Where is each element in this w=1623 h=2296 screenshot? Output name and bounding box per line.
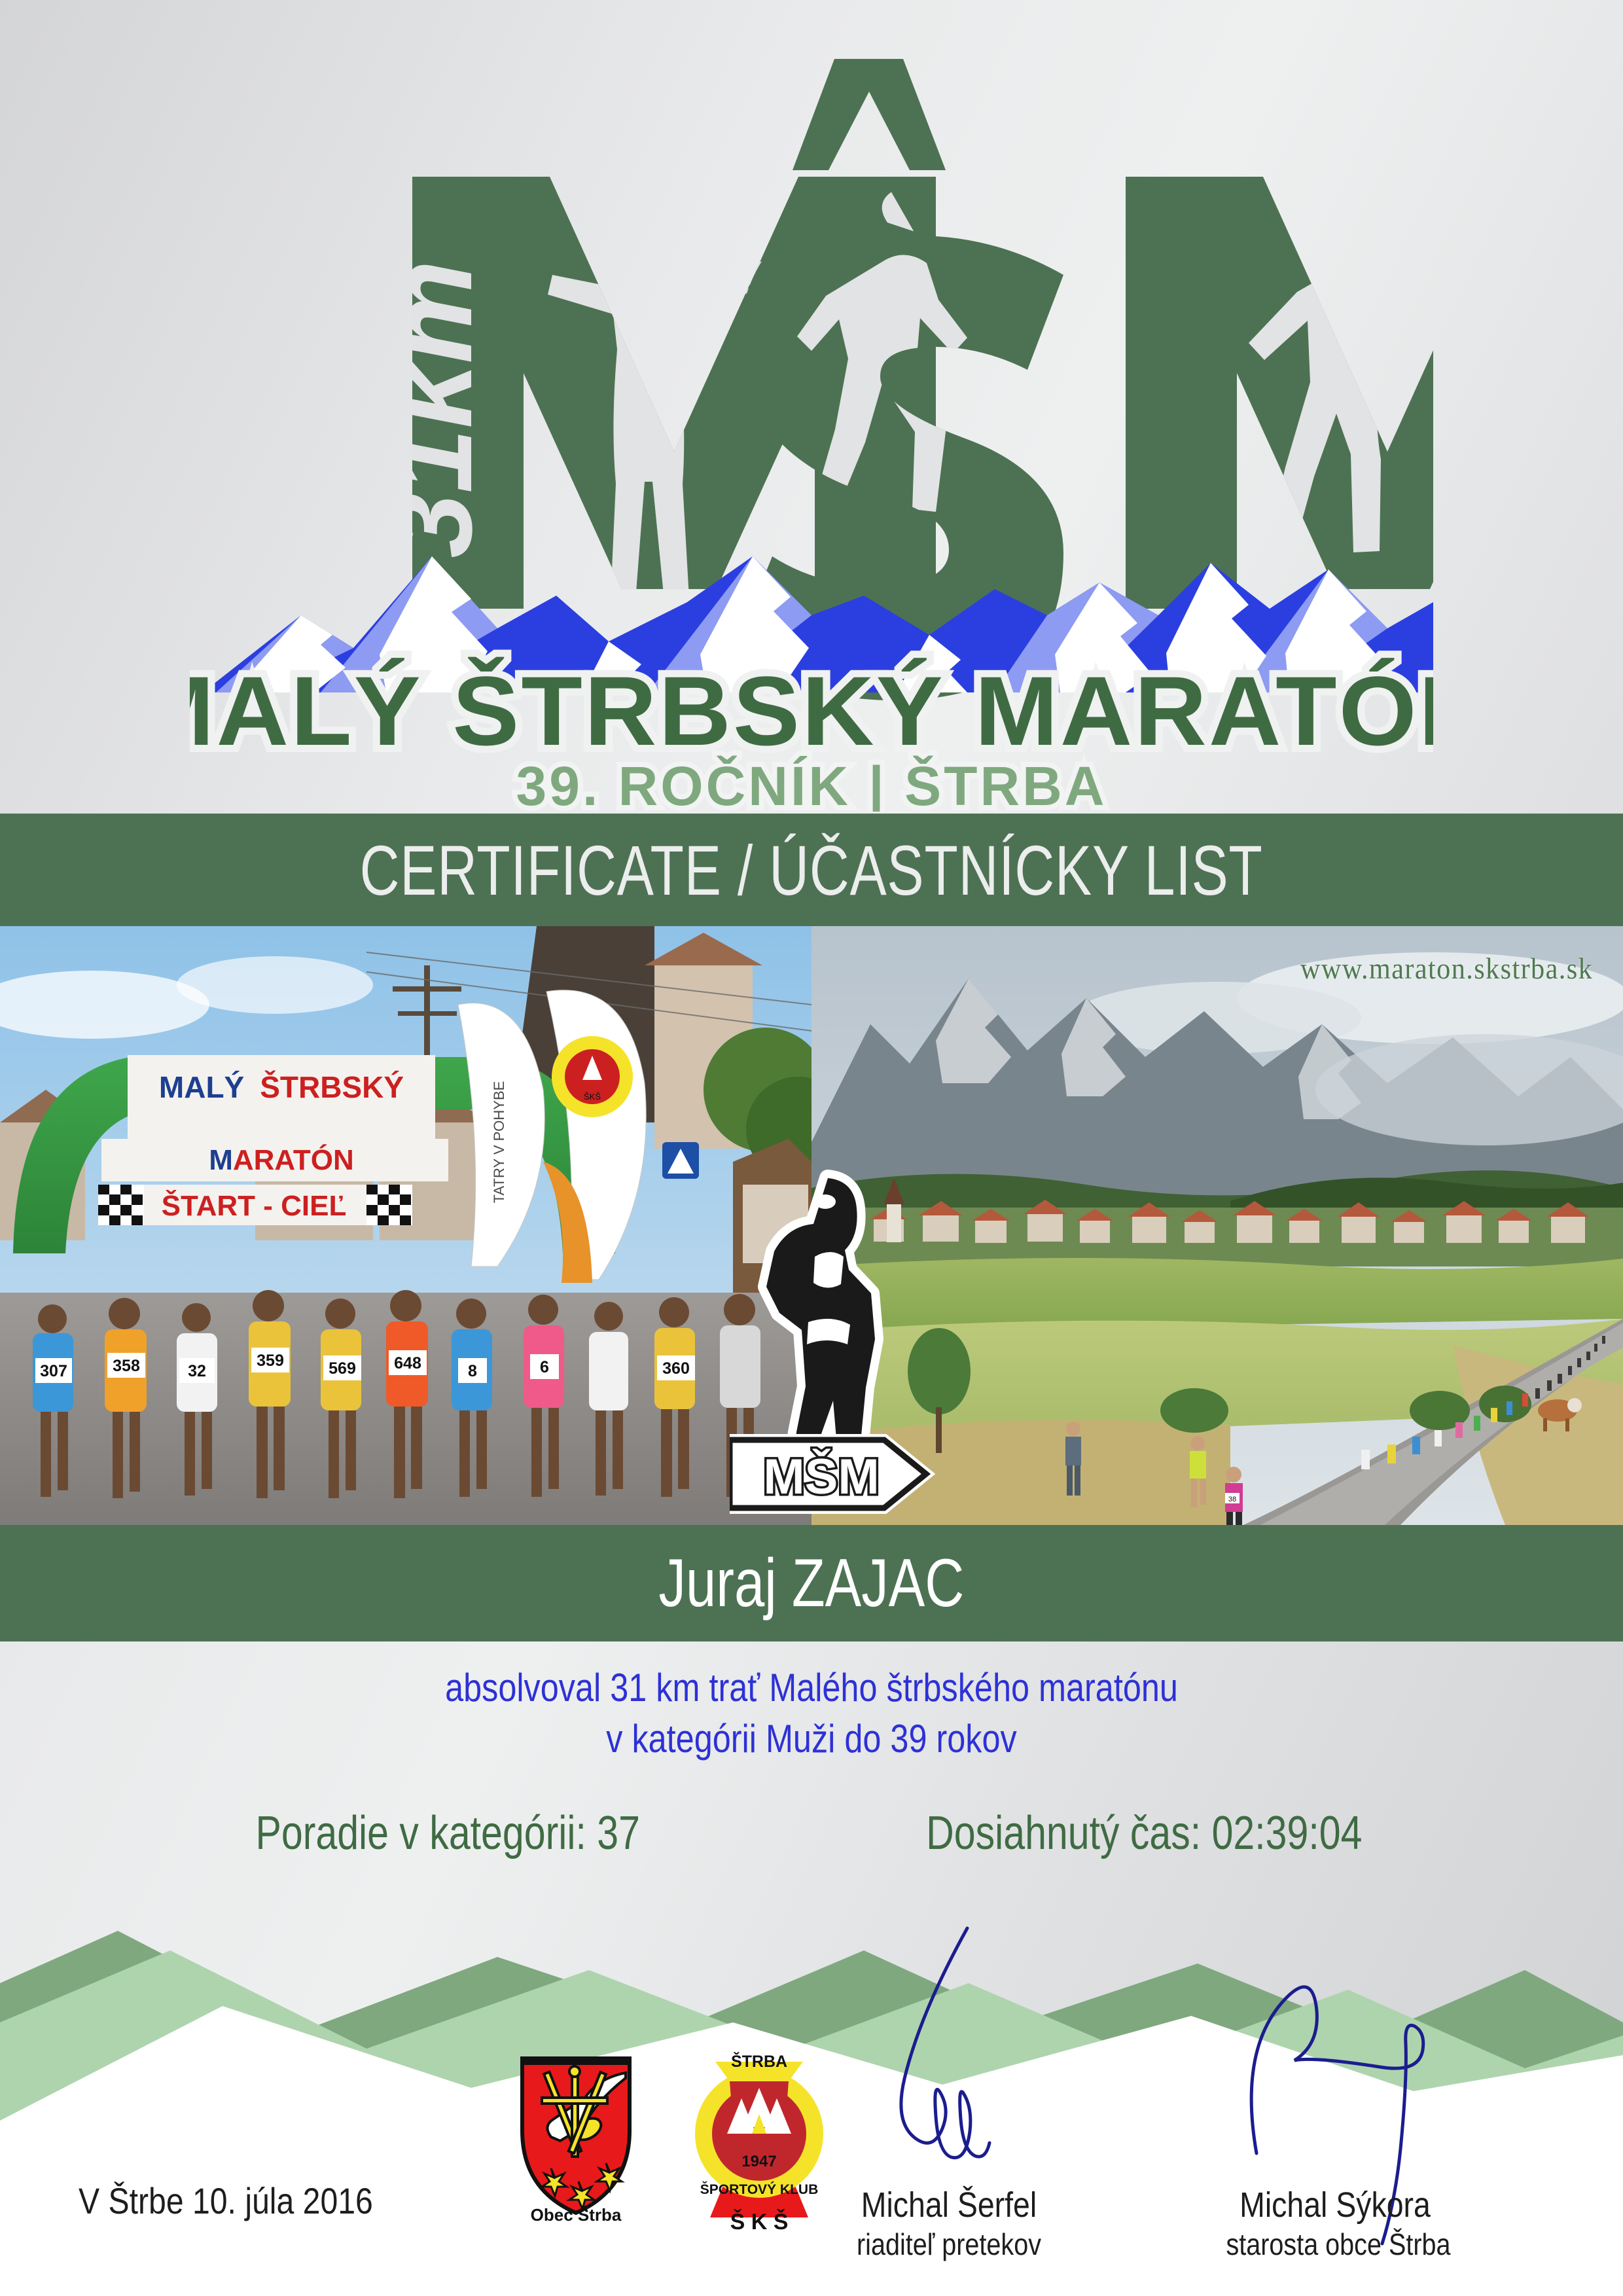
achievement-line-1: absolvoval 31 km trať Malého štrbského m… <box>130 1662 1493 1713</box>
certificate-title-band: CERTIFICATE / ÚČASTNÍCKY LIST <box>0 814 1623 926</box>
results-row: Poradie v kategórii: 37 Dosiahnutý čas: … <box>0 1806 1623 1860</box>
event-logo: 31km 10km <box>0 0 1623 814</box>
signatory-name-2: Michal Sýkora <box>1240 2185 1431 2225</box>
signatory-role-2: starosta obce Štrba <box>1226 2227 1451 2262</box>
sks-year: 1947 <box>741 2153 776 2170</box>
obec-strba-emblem: Obec Štrba <box>510 2052 641 2222</box>
svg-text:648: 648 <box>394 1354 421 1372</box>
msm-logo-graphic: 31km 10km <box>190 26 1433 812</box>
participant-name-band: Juraj ZAJAC <box>0 1525 1623 1641</box>
participant-name: Juraj ZAJAC <box>659 1545 965 1623</box>
sks-banner: Š K Š <box>730 2209 789 2232</box>
svg-text:32: 32 <box>188 1362 206 1380</box>
place-and-date: V Štrbe 10. júla 2016 <box>79 2179 373 2222</box>
svg-text:358: 358 <box>113 1357 140 1375</box>
footer: Obec Štrba ŠTRBA 1947 ŠPORTOVÝ KLUB Š K … <box>0 1924 1623 2296</box>
signatory-role-1: riaditeľ pretekov <box>851 2227 1048 2262</box>
sks-bottom-text: ŠPORTOVÝ KLUB <box>700 2181 818 2197</box>
obec-strba-caption: Obec Štrba <box>531 2205 622 2222</box>
achievement-text: absolvoval 31 km trať Malého štrbského m… <box>0 1662 1623 1765</box>
photo-start-line: MALÝŠTRBSKÝ MARATÓN <box>0 926 811 1525</box>
svg-text:359: 359 <box>257 1352 284 1370</box>
certificate-page: 31km 10km <box>0 0 1623 2296</box>
photo-strip: MALÝŠTRBSKÝ MARATÓN <box>0 926 1623 1525</box>
svg-text:MALÝŠTRBSKÝ: MALÝŠTRBSKÝ <box>159 1070 404 1104</box>
distance-31km: 31km <box>366 260 496 558</box>
achievement-line-2: v kategórii Muži do 39 rokov <box>130 1713 1493 1765</box>
svg-text:8: 8 <box>468 1362 477 1380</box>
svg-text:MŠM: MŠM <box>763 1449 879 1505</box>
svg-text:MALÝ ŠTRBSKÝ MARATÓN: MALÝ ŠTRBSKÝ MARATÓN <box>190 656 1433 766</box>
svg-text:ŠTART - CIEĽ: ŠTART - CIEĽ <box>162 1189 347 1222</box>
svg-text:ŠKŠ: ŠKŠ <box>584 1092 601 1102</box>
sks-strba-emblem: ŠTRBA 1947 ŠPORTOVÝ KLUB Š K Š <box>690 2042 828 2232</box>
caron-accent <box>793 59 946 170</box>
msm-sticker-wordmark: MŠM <box>730 1440 926 1508</box>
svg-text:10km: 10km <box>1433 260 1433 558</box>
svg-text:569: 569 <box>329 1359 356 1378</box>
svg-text:TATRY V POHYBE: TATRY V POHYBE <box>491 1081 507 1204</box>
logo-subtitle: 39. ROČNÍK | ŠTRBA <box>516 755 1107 812</box>
msm-runner-sticker: MŠM <box>730 1158 939 1525</box>
svg-text:MARATÓN: MARATÓN <box>209 1143 354 1176</box>
finish-time: Dosiahnutý čas: 02:39:04 <box>926 1806 1362 1860</box>
svg-text:307: 307 <box>40 1362 67 1380</box>
logo-title: MALÝ ŠTRBSKÝ MARATÓN <box>190 656 1433 766</box>
letter-m-right: 10km <box>1126 177 1433 609</box>
sks-top-text: ŠTRBA <box>731 2051 787 2071</box>
svg-text:360: 360 <box>662 1359 690 1378</box>
svg-text:6: 6 <box>540 1358 549 1376</box>
website-url: www.maraton.skstrba.sk <box>1300 951 1593 986</box>
footer-content: Obec Štrba ŠTRBA 1947 ŠPORTOVÝ KLUB Š K … <box>0 1924 1623 2296</box>
distance-10km: 10km <box>1433 260 1433 558</box>
certificate-title: CERTIFICATE / ÚČASTNÍCKY LIST <box>360 829 1263 911</box>
category-rank: Poradie v kategórii: 37 <box>255 1806 639 1860</box>
svg-text:31km: 31km <box>366 260 496 558</box>
signatory-name-1: Michal Šerfel <box>859 2185 1039 2225</box>
svg-text:38: 38 <box>1228 1496 1236 1503</box>
svg-text:39. ROČNÍK | ŠTRBA: 39. ROČNÍK | ŠTRBA <box>516 755 1107 812</box>
